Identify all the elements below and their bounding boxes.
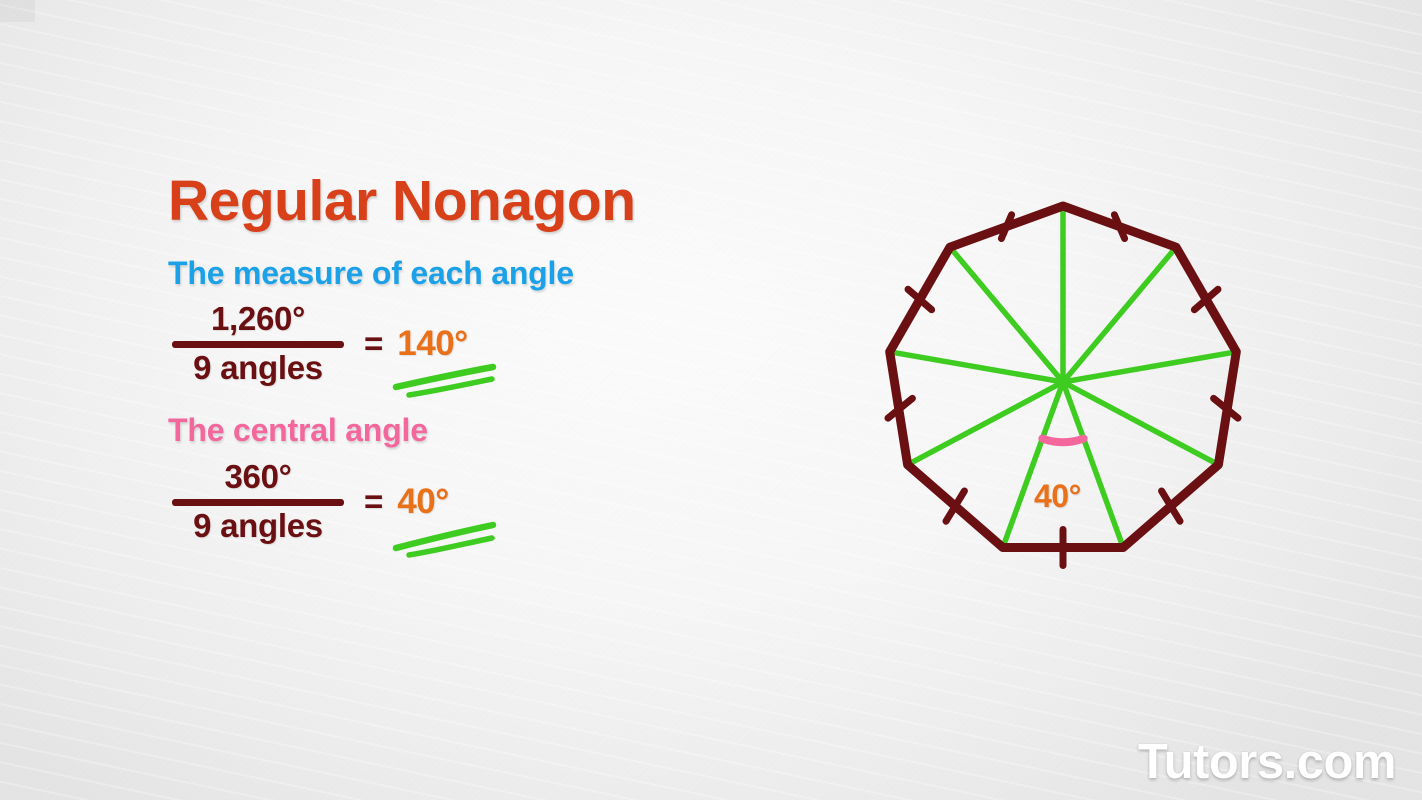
page-title: Regular Nonagon bbox=[168, 172, 788, 231]
each-angle-equation: 1,260° 9 angles = 140° bbox=[168, 301, 788, 387]
central-angle-denominator: 9 angles bbox=[193, 508, 323, 545]
text-column: Regular Nonagon The measure of each angl… bbox=[168, 172, 788, 544]
central-angle-equals-sign: = bbox=[364, 483, 383, 521]
fraction-bar bbox=[172, 499, 344, 506]
central-angle-fraction: 360° 9 angles bbox=[168, 459, 348, 545]
central-angle-arc bbox=[1042, 439, 1083, 443]
each-angle-heading: The measure of each angle bbox=[168, 256, 788, 291]
central-angle-heading: The central angle bbox=[168, 413, 788, 448]
nonagon-center-point bbox=[1058, 377, 1069, 388]
watermark: Tutors.com bbox=[1138, 734, 1396, 790]
each-angle-result: 140° bbox=[397, 324, 467, 364]
corner-shade-patch bbox=[0, 0, 35, 22]
fraction-bar bbox=[172, 341, 344, 348]
each-angle-result-wrap: 140° bbox=[397, 324, 467, 364]
central-angle-numerator: 360° bbox=[224, 459, 291, 496]
slide-canvas: Regular Nonagon The measure of each angl… bbox=[0, 0, 1422, 800]
each-angle-fraction: 1,260° 9 angles bbox=[168, 301, 348, 387]
each-angle-equals-sign: = bbox=[364, 325, 383, 363]
regular-nonagon-figure bbox=[860, 180, 1280, 590]
each-angle-numerator: 1,260° bbox=[211, 301, 305, 338]
central-angle-equation: 360° 9 angles = 40° bbox=[168, 459, 788, 545]
green-underline-icon bbox=[393, 522, 505, 556]
central-angle-value-label: 40° bbox=[1034, 478, 1081, 515]
central-angle-result-wrap: 40° bbox=[397, 482, 448, 522]
central-angle-result: 40° bbox=[397, 482, 448, 522]
each-angle-denominator: 9 angles bbox=[193, 350, 323, 387]
green-underline-icon bbox=[393, 364, 505, 398]
